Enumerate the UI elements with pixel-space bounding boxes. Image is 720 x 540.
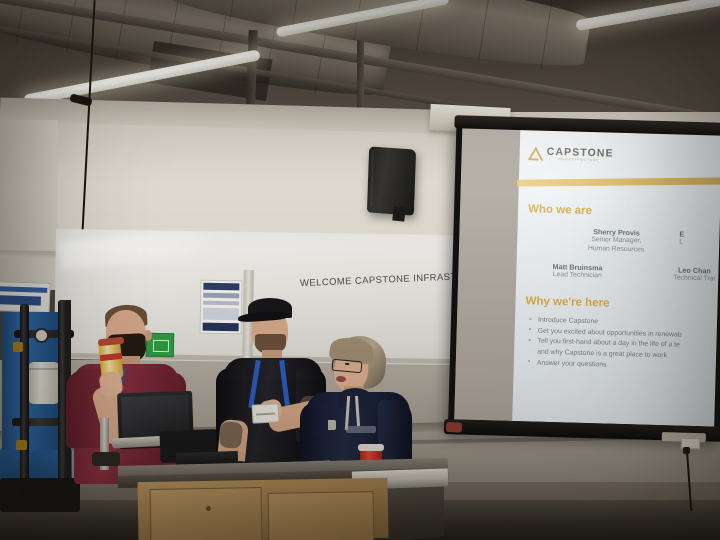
slide-heading-why-were-here: Why we're here: [525, 295, 609, 309]
photo-scene: WELCOME CAPSTONE INFRASTRUCTURE ! CAPSTO…: [0, 0, 720, 540]
arm-tattoo: [219, 421, 244, 449]
logo-subtitle: INFRASTRUCTURE: [557, 157, 599, 162]
embroidered-text: [346, 426, 376, 433]
wall-speaker: [367, 146, 416, 215]
slide-person-entry: Matt Bruinsma Lead Technician: [538, 262, 616, 282]
capstone-logo: CAPSTONE INFRASTRUCTURE: [527, 145, 613, 163]
podium-panel: [268, 491, 375, 540]
person-role-1: L: [679, 239, 720, 250]
screen-unlit-area: [454, 127, 520, 421]
person-role-1: Lead Technician: [538, 271, 616, 282]
brass-valve[interactable]: [13, 342, 23, 352]
monitor-clamp: [92, 452, 120, 466]
person-role-1: Technical Trai: [646, 274, 720, 285]
slide-heading-who-we-are: Who we are: [528, 203, 592, 217]
slide-person-entry: E L: [679, 230, 720, 250]
wall-pillar: [0, 120, 58, 290]
screen-pull-knob[interactable]: [446, 422, 462, 432]
capstone-triangle-icon: [527, 146, 543, 160]
slide-person-entry: Leo Chan Technical Trai: [646, 265, 720, 286]
pressure-tank: [28, 362, 60, 404]
slide-accent-bar: [517, 177, 720, 187]
pipe-vertical: [20, 304, 29, 504]
podium-panel: [150, 487, 263, 540]
slide-person-entry: Sherry Provis Senior Manager, Human Reso…: [573, 227, 660, 256]
eyeglasses: [332, 359, 363, 374]
person-role-2: Human Resources: [573, 244, 659, 255]
pressure-gauge: [34, 328, 49, 343]
screen-surface: CAPSTONE INFRASTRUCTURE Intro Who we are…: [454, 127, 720, 426]
projector-screen[interactable]: CAPSTONE INFRASTRUCTURE Intro Who we are…: [448, 123, 720, 448]
speaker-bracket: [392, 206, 405, 221]
projected-slide: CAPSTONE INFRASTRUCTURE Intro Who we are…: [512, 129, 720, 427]
coffee-cup-lid: [358, 444, 384, 451]
fluorescent-light: [575, 0, 720, 31]
slide-bullet-list: Introduce Capstone Get you excited about…: [528, 315, 720, 374]
brass-valve[interactable]: [16, 440, 27, 450]
podium-door-knob[interactable]: [206, 506, 211, 511]
id-badge: [252, 403, 280, 423]
